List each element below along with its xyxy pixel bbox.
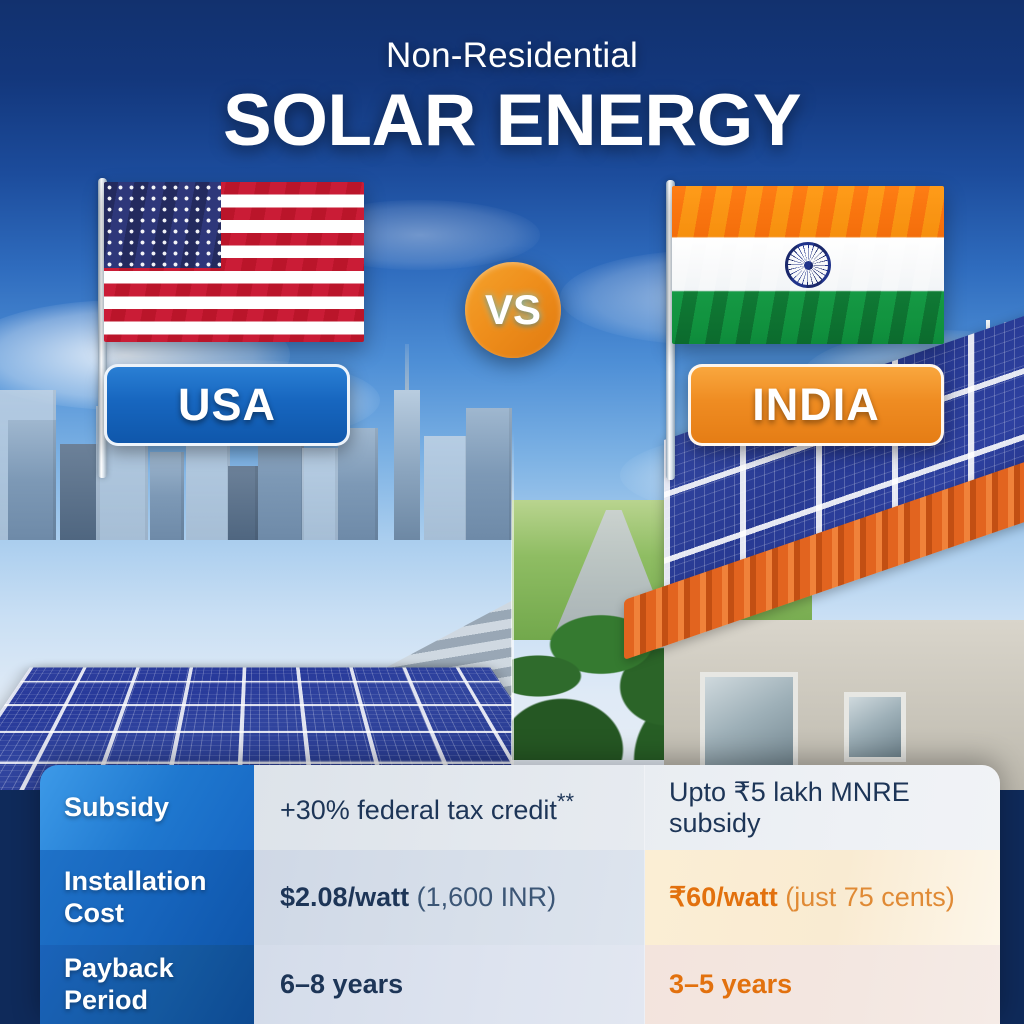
row-label-installation-cost: Installation Cost: [40, 850, 254, 945]
row-label-subsidy: Subsidy: [40, 765, 254, 850]
cell-usa-installation-cost: $2.08/watt (1,600 INR): [254, 850, 645, 945]
usa-cost-secondary: (1,600 INR): [417, 882, 557, 913]
country-badge-india[interactable]: INDIA: [688, 364, 944, 446]
india-cost-value: ₹60/watt: [669, 882, 778, 913]
infographic-canvas: Non-Residential SOLAR ENERGY VS USA INDI…: [0, 0, 1024, 1024]
cell-india-payback-period: 3–5 years: [645, 945, 1000, 1024]
row-label-payback-period: Payback Period: [40, 945, 254, 1024]
india-payback-value: 3–5 years: [669, 969, 792, 1000]
header: Non-Residential SOLAR ENERGY: [0, 0, 1024, 158]
india-flag: [672, 186, 944, 344]
table-row: Subsidy +30% federal tax credit** Upto ₹…: [40, 765, 1000, 850]
footnote-marker: **: [557, 789, 574, 814]
table-row: Installation Cost $2.08/watt (1,600 INR)…: [40, 850, 1000, 945]
house-with-solar-roof: [604, 490, 1024, 790]
usa-flag: [104, 182, 364, 342]
house-window: [844, 692, 906, 762]
kicker-text: Non-Residential: [0, 36, 1024, 76]
page-title: SOLAR ENERGY: [0, 84, 1024, 158]
cell-usa-subsidy: +30% federal tax credit**: [254, 765, 645, 850]
usa-subsidy-value: +30% federal tax credit: [280, 795, 557, 825]
usa-cost-value: $2.08/watt: [280, 882, 409, 913]
cell-india-installation-cost: ₹60/watt (just 75 cents): [645, 850, 1000, 945]
vs-badge: VS: [465, 262, 561, 358]
india-cost-secondary: (just 75 cents): [785, 882, 955, 913]
comparison-table: Subsidy +30% federal tax credit** Upto ₹…: [40, 765, 1000, 1024]
cell-usa-payback-period: 6–8 years: [254, 945, 645, 1024]
country-badge-usa[interactable]: USA: [104, 364, 350, 446]
india-subsidy-value: Upto ₹5 lakh MNRE subsidy: [669, 777, 986, 839]
cell-india-subsidy: Upto ₹5 lakh MNRE subsidy: [645, 765, 1000, 850]
scene-divider: [511, 430, 514, 790]
usa-payback-value: 6–8 years: [280, 969, 403, 1000]
table-row: Payback Period 6–8 years 3–5 years: [40, 945, 1000, 1024]
ashoka-chakra-icon: [785, 242, 831, 288]
